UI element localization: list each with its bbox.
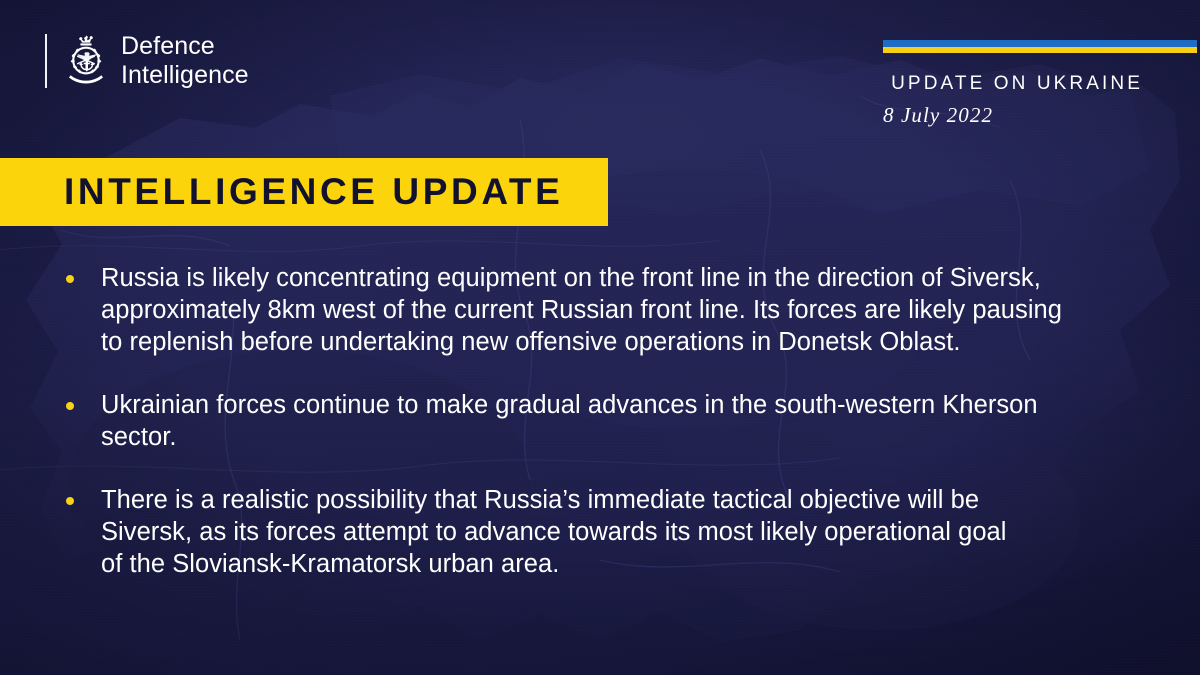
update-date: 8 July 2022 <box>883 103 993 128</box>
flag-stripe-yellow <box>883 47 1197 54</box>
list-item: Ukrainian forces continue to make gradua… <box>66 389 1096 453</box>
organisation-line-2: Intelligence <box>121 61 249 90</box>
intelligence-update-banner: INTELLIGENCE UPDATE <box>0 158 608 226</box>
update-title: UPDATE ON UKRAINE <box>891 73 1143 95</box>
intelligence-update-graphic: Defence Intelligence UPDATE ON UKRAINE 8… <box>0 0 1200 675</box>
mod-tri-service-crest-icon <box>64 34 108 88</box>
bullet-text: Ukrainian forces continue to make gradua… <box>101 389 1061 453</box>
bullet-dot-icon <box>66 275 74 283</box>
defence-intelligence-logo: Defence Intelligence <box>45 32 249 90</box>
list-item: There is a realistic possibility that Ru… <box>66 484 1096 580</box>
organisation-name: Defence Intelligence <box>121 32 249 90</box>
bullet-text: Russia is likely concentrating equipment… <box>101 262 1076 358</box>
list-item: Russia is likely concentrating equipment… <box>66 262 1096 358</box>
organisation-line-1: Defence <box>121 32 249 61</box>
bullet-dot-icon <box>66 497 74 505</box>
bullet-list: Russia is likely concentrating equipment… <box>66 262 1096 580</box>
bullet-dot-icon <box>66 402 74 410</box>
logo-divider-rule <box>45 34 47 88</box>
bullet-text: There is a realistic possibility that Ru… <box>101 484 1031 580</box>
banner-label: INTELLIGENCE UPDATE <box>64 171 563 213</box>
ukraine-flag-bar-icon <box>883 40 1197 53</box>
